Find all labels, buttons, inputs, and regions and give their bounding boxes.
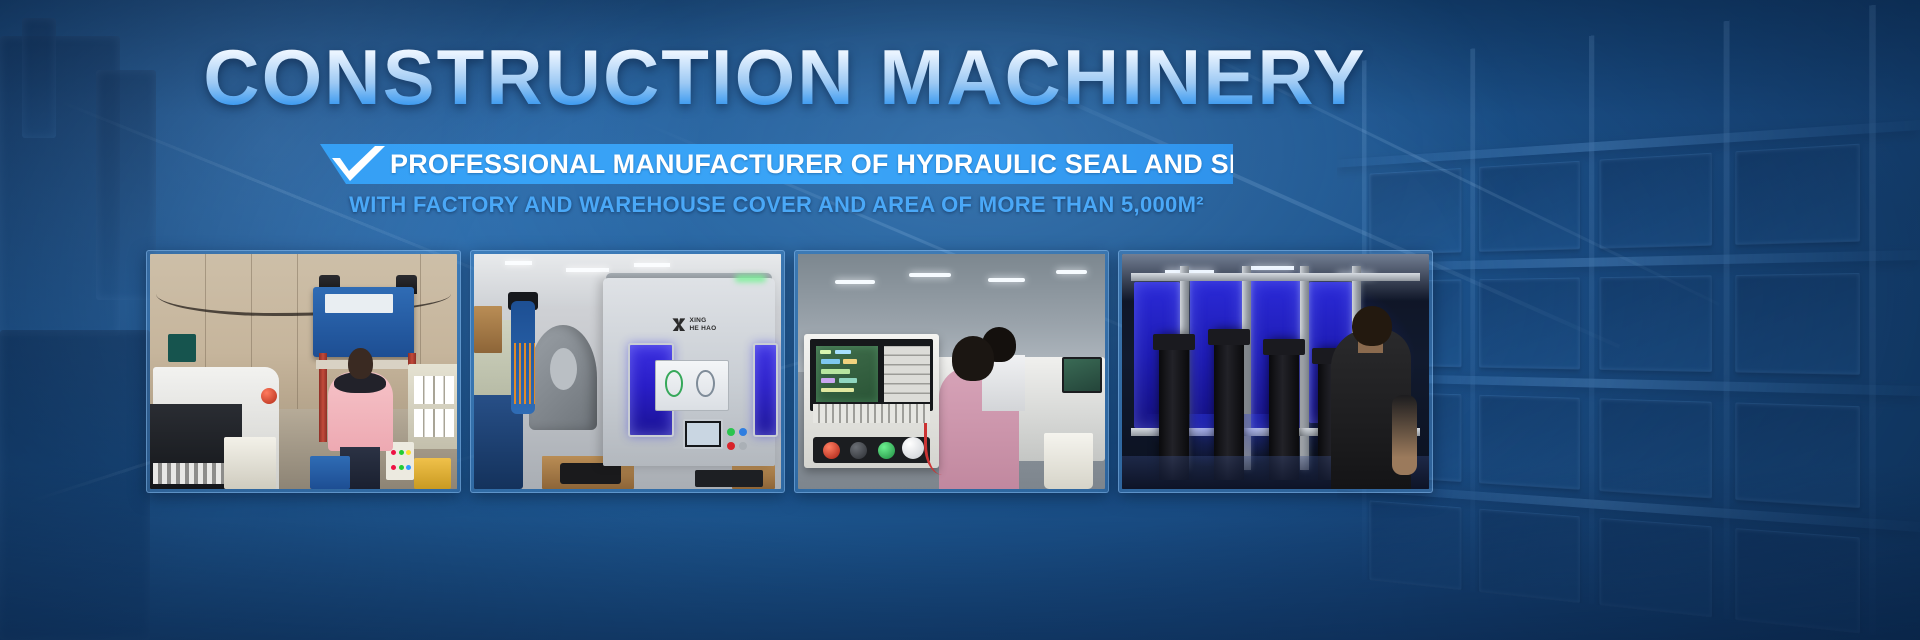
brand-line-1: XING bbox=[689, 317, 716, 324]
photo-automation-cell bbox=[1122, 254, 1429, 489]
tagline-text: WITH FACTORY AND WAREHOUSE COVER AND ARE… bbox=[320, 192, 1233, 218]
brand-mark-icon bbox=[672, 318, 685, 331]
photo-cnc-lathe-operator bbox=[798, 254, 1105, 489]
promo-banner: CONSTRUCTION MACHINERY PROFESSIONAL MANU… bbox=[0, 0, 1920, 640]
photo-rubber-press-workshop bbox=[150, 254, 457, 489]
photo-frame-automatic-inspection-machine[interactable]: XING HE HAO bbox=[470, 250, 785, 493]
brand-line-2: HE HAO bbox=[689, 325, 716, 332]
photo-frame-rubber-press-workshop[interactable] bbox=[146, 250, 461, 493]
page-title: CONSTRUCTION MACHINERY bbox=[0, 38, 1570, 116]
photo-frame-automation-cell[interactable] bbox=[1118, 250, 1433, 493]
press-brand-label bbox=[325, 294, 393, 313]
photo-frame-cnc-lathe-operator[interactable] bbox=[794, 250, 1109, 493]
machine-brand-logo: XING HE HAO bbox=[672, 317, 716, 332]
subtitle-bar: PROFESSIONAL MANUFACTURER OF HYDRAULIC S… bbox=[320, 144, 1233, 184]
subtitle-text: PROFESSIONAL MANUFACTURER OF HYDRAULIC S… bbox=[390, 144, 1335, 184]
photo-strip: XING HE HAO bbox=[146, 250, 1433, 493]
photo-automatic-inspection-machine: XING HE HAO bbox=[474, 254, 781, 489]
